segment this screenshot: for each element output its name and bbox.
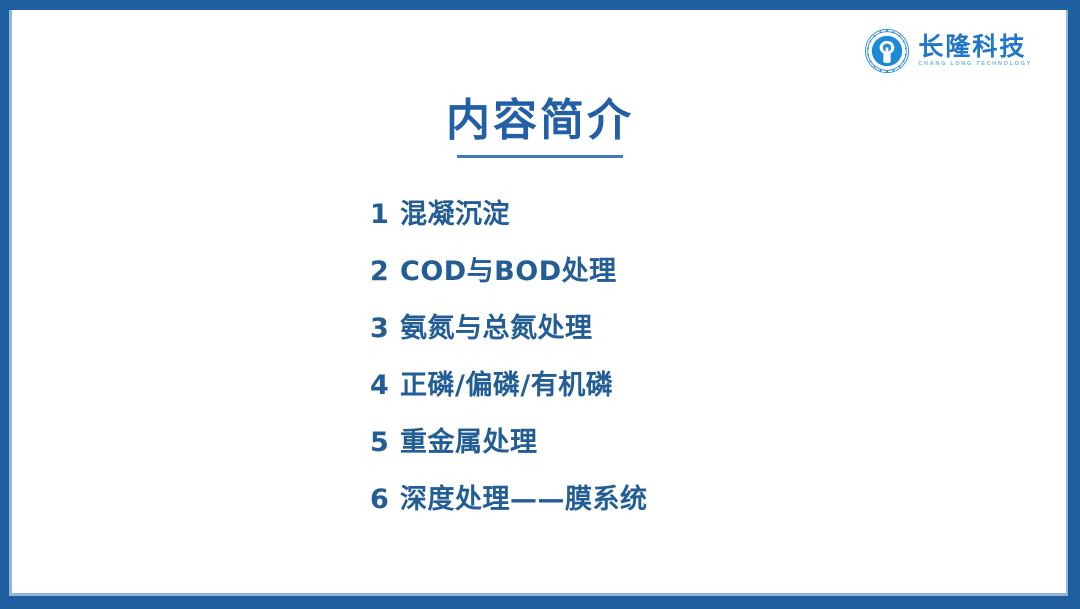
logo-company-name-en: CHANG LONG TECHNOLOGY [918, 62, 1032, 68]
list-item-number: 6 [370, 484, 391, 515]
list-item-number: 1 [370, 199, 391, 230]
list-item-label: 重金属处理 [400, 420, 538, 459]
company-logo: 长隆科技 CHANG LONG TECHNOLOGY [864, 28, 1032, 74]
slide-title-container: 内容简介 [0, 98, 1080, 144]
list-item: 5 重金属处理 [370, 420, 648, 477]
changlong-emblem-icon [864, 28, 910, 74]
slide-border-top [0, 0, 1080, 10]
list-item-label: 正磷/偏磷/有机磷 [400, 363, 613, 402]
agenda-list: 1 混凝沉淀 2 COD与BOD处理 3 氨氮与总氮处理 4 正磷/偏磷/有机磷… [370, 192, 648, 534]
page-title: 内容简介 [446, 98, 634, 144]
list-item-number: 2 [370, 256, 391, 287]
list-item-label: 混凝沉淀 [400, 192, 510, 231]
slide-inner-line-bottom [9, 593, 1068, 596]
list-item-number: 4 [370, 370, 391, 401]
list-item-number: 3 [370, 313, 391, 344]
list-item-label: 深度处理——膜系统 [400, 477, 648, 516]
logo-wordmark: 长隆科技 CHANG LONG TECHNOLOGY [918, 34, 1032, 68]
list-item: 2 COD与BOD处理 [370, 249, 648, 306]
presentation-slide: 长隆科技 CHANG LONG TECHNOLOGY 内容简介 1 混凝沉淀 2… [0, 0, 1080, 609]
slide-border-bottom [0, 596, 1080, 609]
list-item-number: 5 [370, 427, 391, 458]
slide-border-left [0, 0, 9, 609]
list-item-label: COD与BOD处理 [400, 249, 617, 288]
list-item: 3 氨氮与总氮处理 [370, 306, 648, 363]
list-item: 1 混凝沉淀 [370, 192, 648, 249]
slide-border-right [1068, 0, 1080, 609]
logo-company-name-cn: 长隆科技 [918, 34, 1032, 59]
title-underline [457, 155, 623, 158]
list-item: 4 正磷/偏磷/有机磷 [370, 363, 648, 420]
list-item-label: 氨氮与总氮处理 [400, 306, 593, 345]
list-item: 6 深度处理——膜系统 [370, 477, 648, 534]
